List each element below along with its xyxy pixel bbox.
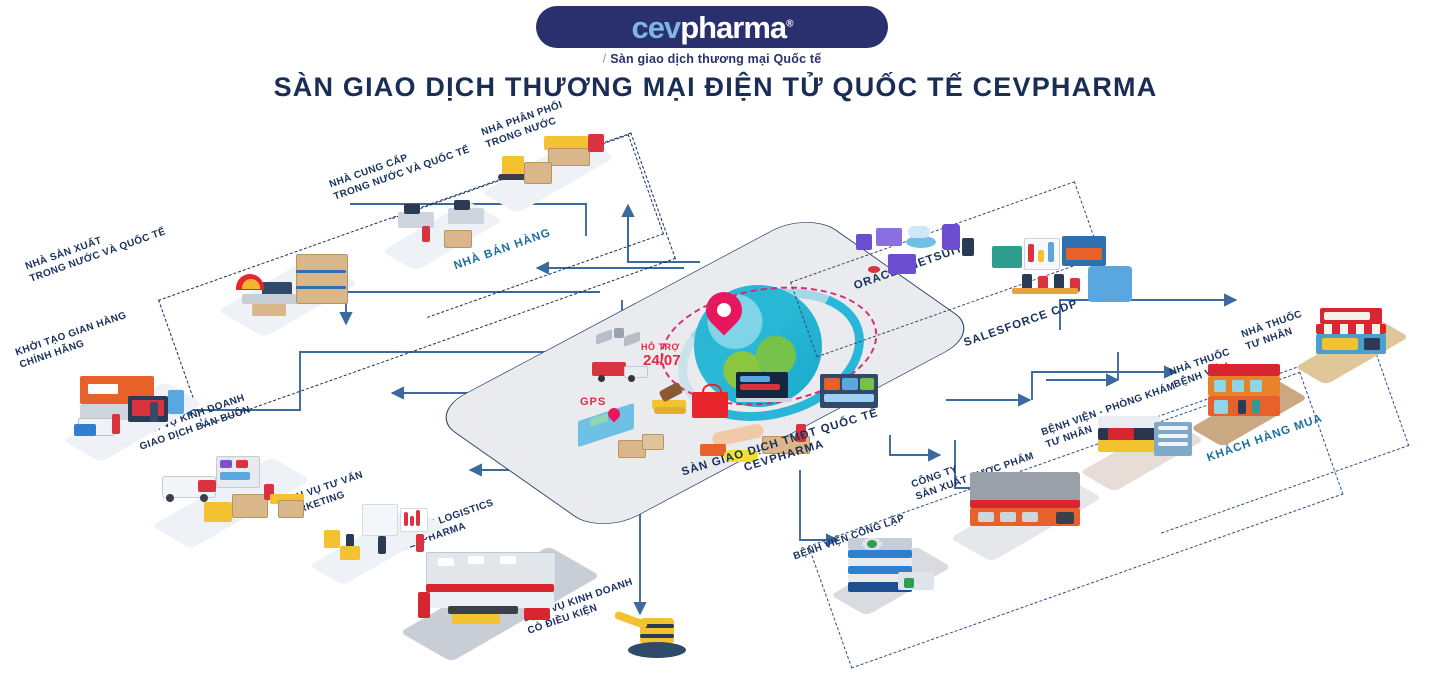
art-conditional-gavel: [612, 604, 690, 660]
support-label-line1: HỖ TRỢ: [641, 342, 680, 352]
art-supplier-office: [392, 196, 500, 258]
art-salesforce-analytics: [992, 236, 1134, 320]
node-label-storefront: KHỞI TẠO GIAN HÀNG CHÍNH HÃNG: [14, 310, 133, 372]
art-platform-gavel: [644, 386, 692, 416]
logo-cev-text: cev: [631, 10, 680, 45]
art-laptop-screen: [736, 372, 792, 406]
art-logistics-warehouse: [408, 548, 598, 642]
art-satellite: [596, 326, 642, 350]
registered-mark-icon: ®: [786, 18, 792, 29]
art-shopping-bag: [692, 384, 730, 418]
art-private-clinic: [1088, 412, 1200, 478]
node-label-manufacturer: NHÀ SẢN XUẤT TRONG NƯỚC VÀ QUỐC TẾ: [24, 214, 168, 285]
art-manufacturer-warehouse: [232, 248, 352, 320]
art-public-hospital: [838, 532, 948, 602]
node-label-supplier: NHÀ CUNG CẤP TRONG NƯỚC VÀ QUỐC TẾ: [328, 132, 472, 203]
tagline-text: Sàn giao dịch thương mại Quốc tế: [610, 52, 821, 66]
logo-tagline: /Sàn giao dịch thương mại Quốc tế: [536, 52, 888, 66]
art-parcel-boxes: [618, 432, 664, 458]
node-label-private-pharmacy: NHÀ THUỐC TƯ NHÂN: [1240, 309, 1308, 354]
art-distributor-forklift: [488, 128, 612, 200]
page-title: SÀN GIAO DỊCH THƯƠNG MẠI ĐIỆN TỬ QUỐC TẾ…: [0, 72, 1431, 103]
art-private-pharmacy-store: [1302, 306, 1406, 372]
art-pharma-factory: [956, 468, 1096, 546]
art-wholesale-van: [158, 450, 308, 530]
art-hospital-pharmacy-store: [1198, 360, 1304, 434]
art-storefront-screen: [72, 372, 202, 450]
art-delivery-truck: [592, 356, 652, 384]
tagline-slash-icon: /: [603, 52, 607, 66]
cevpharma-logo: cevpharma®: [536, 6, 888, 48]
logo-pharma-text: pharma: [680, 10, 786, 45]
art-oracle-cloud-stack: [850, 222, 990, 282]
diagram-canvas: cevpharma® /Sàn giao dịch thương mại Quố…: [0, 0, 1431, 674]
